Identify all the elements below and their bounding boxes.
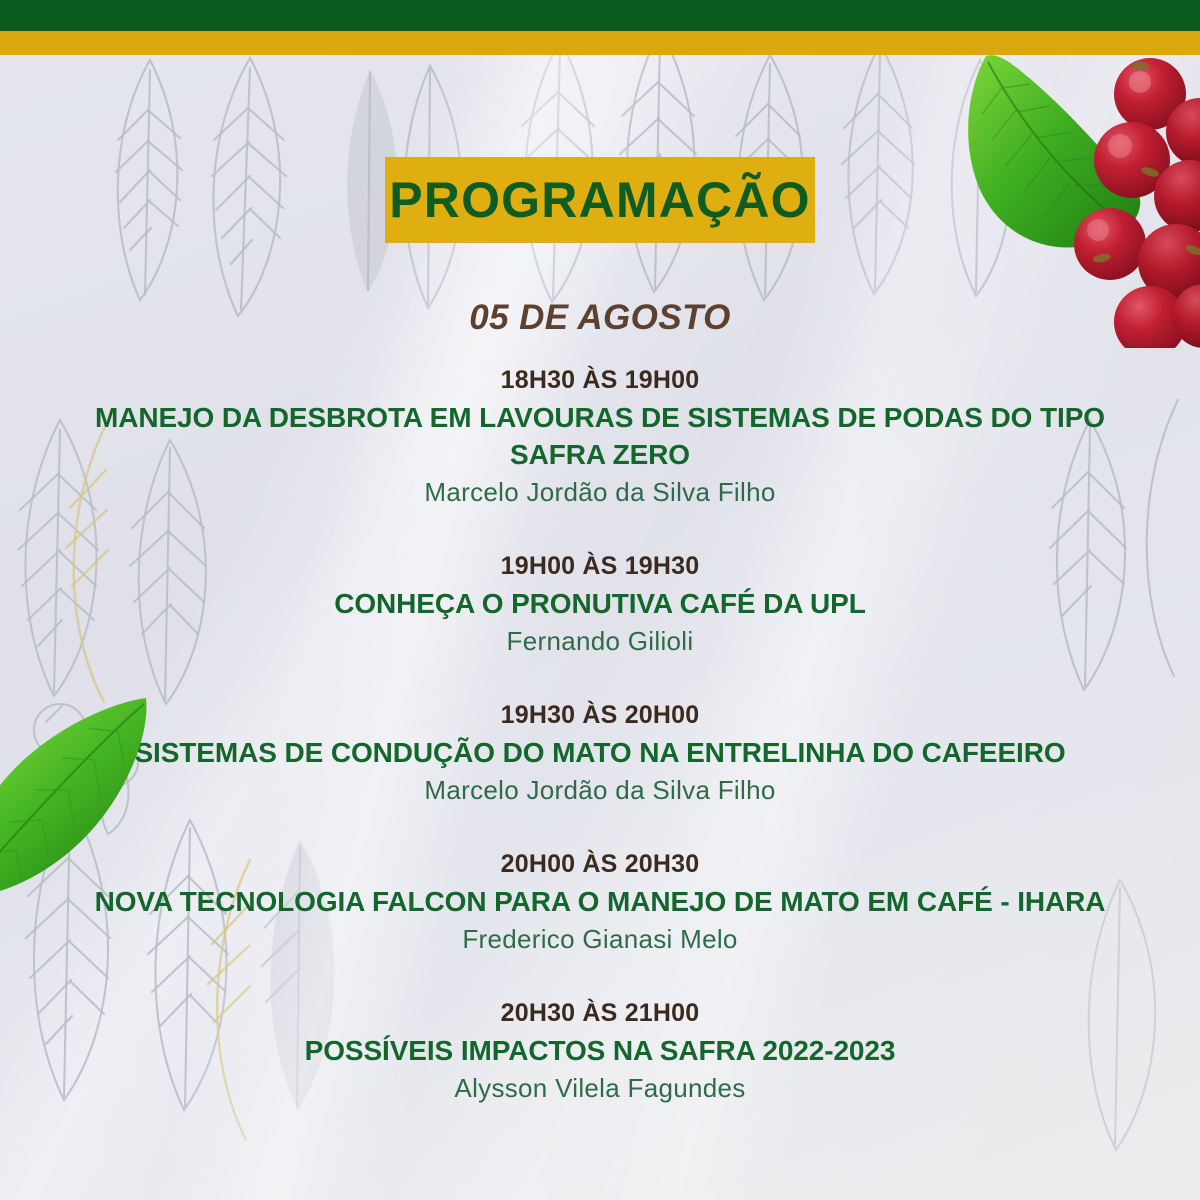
session-item: 18H30 ÀS 19H00 MANEJO DA DESBROTA EM LAV… xyxy=(0,364,1200,510)
session-title: SISTEMAS DE CONDUÇÃO DO MATO NA ENTRELIN… xyxy=(0,734,1200,771)
session-item: 19H00 ÀS 19H30 CONHEÇA O PRONUTIVA CAFÉ … xyxy=(0,550,1200,659)
session-title: NOVA TECNOLOGIA FALCON PARA O MANEJO DE … xyxy=(0,883,1200,920)
coffee-berry xyxy=(1074,208,1146,280)
session-time: 20H00 ÀS 20H30 xyxy=(0,848,1200,880)
programacao-poster: PROGRAMAÇÃO 05 DE AGOSTO 18H30 ÀS 19H00 … xyxy=(0,0,1200,1200)
coffee-branch-berries-icon xyxy=(954,48,1200,348)
session-speaker: Marcelo Jordão da Silva Filho xyxy=(0,476,1200,510)
session-item: 20H30 ÀS 21H00 POSSÍVEIS IMPACTOS NA SAF… xyxy=(0,997,1200,1106)
session-speaker: Fernando Gilioli xyxy=(0,625,1200,659)
page-title-banner: PROGRAMAÇÃO xyxy=(385,157,815,243)
top-green-band xyxy=(0,0,1200,31)
session-time: 20H30 ÀS 21H00 xyxy=(0,997,1200,1029)
session-speaker: Marcelo Jordão da Silva Filho xyxy=(0,774,1200,808)
coffee-leaf-shape xyxy=(0,698,146,896)
session-item: 19H30 ÀS 20H00 SISTEMAS DE CONDUÇÃO DO M… xyxy=(0,699,1200,808)
session-title: MANEJO DA DESBROTA EM LAVOURAS DE SISTEM… xyxy=(0,399,1200,473)
session-speaker: Alysson Vilela Fagundes xyxy=(0,1072,1200,1106)
session-title: CONHEÇA O PRONUTIVA CAFÉ DA UPL xyxy=(0,585,1200,622)
page-title: PROGRAMAÇÃO xyxy=(389,175,811,225)
session-time: 19H00 ÀS 19H30 xyxy=(0,550,1200,582)
session-speaker: Frederico Gianasi Melo xyxy=(0,923,1200,957)
session-title: POSSÍVEIS IMPACTOS NA SAFRA 2022-2023 xyxy=(0,1032,1200,1069)
session-time: 19H30 ÀS 20H00 xyxy=(0,699,1200,731)
session-time: 18H30 ÀS 19H00 xyxy=(0,364,1200,396)
session-item: 20H00 ÀS 20H30 NOVA TECNOLOGIA FALCON PA… xyxy=(0,848,1200,957)
schedule-list: 05 DE AGOSTO 18H30 ÀS 19H00 MANEJO DA DE… xyxy=(0,300,1200,1106)
coffee-leaf-icon xyxy=(0,690,168,910)
